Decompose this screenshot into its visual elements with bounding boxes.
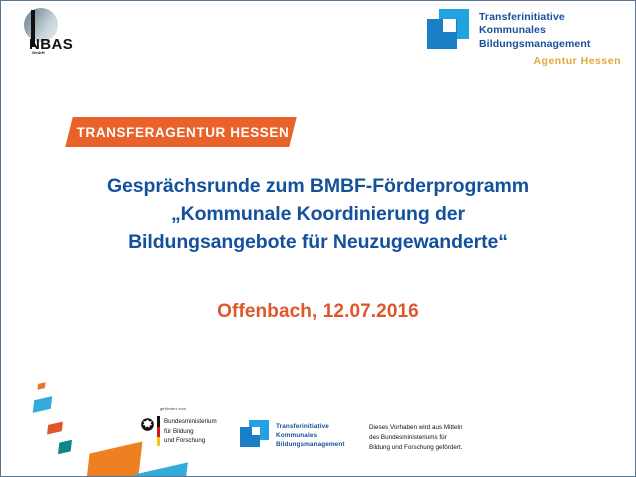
transferagentur-banner: TRANSFERAGENTUR HESSEN bbox=[69, 117, 293, 147]
footer-logo-squares-icon bbox=[238, 420, 270, 450]
bmbf-kicker: gefördert vom bbox=[160, 407, 186, 411]
federal-eagle-icon bbox=[141, 418, 154, 431]
decorative-diamond-3 bbox=[47, 421, 63, 434]
banner-label: TRANSFERAGENTUR HESSEN bbox=[69, 117, 293, 147]
footer-logo-line-1: Transferinitiative bbox=[276, 423, 329, 430]
agency-label: Agentur Hessen bbox=[533, 55, 621, 67]
logo-line-3: Bildungsmanagement bbox=[479, 38, 590, 50]
bmbf-line-1: Bundesministerium bbox=[164, 418, 217, 425]
slide-title: Gesprächsrunde zum BMBF-Förderprogramm „… bbox=[1, 173, 635, 257]
funding-note-line-1: Dieses Vorhaben wird aus Mitteln bbox=[369, 423, 462, 433]
decorative-diamond-2 bbox=[33, 396, 52, 413]
logo-square-notch bbox=[443, 19, 456, 32]
footer-logo-line-2: Kommunales bbox=[276, 432, 317, 439]
transferinitiative-squares-icon bbox=[423, 9, 471, 53]
transferinitiative-logo-header: Transferinitiative Kommunales Bildungsma… bbox=[423, 9, 623, 71]
decorative-diamond-5 bbox=[86, 441, 143, 477]
slide-subtitle: Offenbach, 12.07.2016 bbox=[1, 301, 635, 323]
bmbf-line-2: für Bildung bbox=[164, 428, 194, 435]
bmbf-wordmark: Bundesministerium für Bildung und Forsch… bbox=[164, 417, 217, 446]
presentation-slide: NBAS GmbH Transferinitiative Kommunales … bbox=[0, 0, 636, 477]
logo-line-2: Kommunales bbox=[479, 24, 546, 36]
title-line-3: Bildungsangebote für Neuzugewanderte“ bbox=[1, 229, 635, 257]
footer-logo-wordmark: Transferinitiative Kommunales Bildungsma… bbox=[276, 422, 345, 449]
funding-note-line-2: des Bundesministeriums für bbox=[369, 433, 462, 443]
german-flag-stripe-icon bbox=[157, 416, 160, 446]
inbas-logo: NBAS GmbH bbox=[18, 7, 82, 59]
funding-note-line-3: Bildung und Forschung gefördert. bbox=[369, 443, 462, 453]
funding-note: Dieses Vorhaben wird aus Mitteln des Bun… bbox=[369, 423, 462, 453]
decorative-diamond-4 bbox=[58, 440, 72, 455]
footer-logo-line-3: Bildungsmanagement bbox=[276, 441, 345, 448]
logo-line-1: Transferinitiative bbox=[479, 11, 565, 23]
transferinitiative-logo-footer: Transferinitiative Kommunales Bildungsma… bbox=[238, 420, 368, 452]
footer-logo-square-notch bbox=[252, 427, 260, 435]
transferinitiative-wordmark: Transferinitiative Kommunales Bildungsma… bbox=[479, 11, 590, 51]
title-line-1: Gesprächsrunde zum BMBF-Förderprogramm bbox=[1, 173, 635, 201]
bmbf-logo: gefördert vom Bundesministerium für Bild… bbox=[141, 407, 236, 455]
inbas-sublabel: GmbH bbox=[32, 51, 45, 55]
decorative-diamond-1 bbox=[37, 382, 45, 390]
bmbf-line-3: und Forschung bbox=[164, 437, 205, 444]
title-line-2: „Kommunale Koordinierung der bbox=[1, 201, 635, 229]
